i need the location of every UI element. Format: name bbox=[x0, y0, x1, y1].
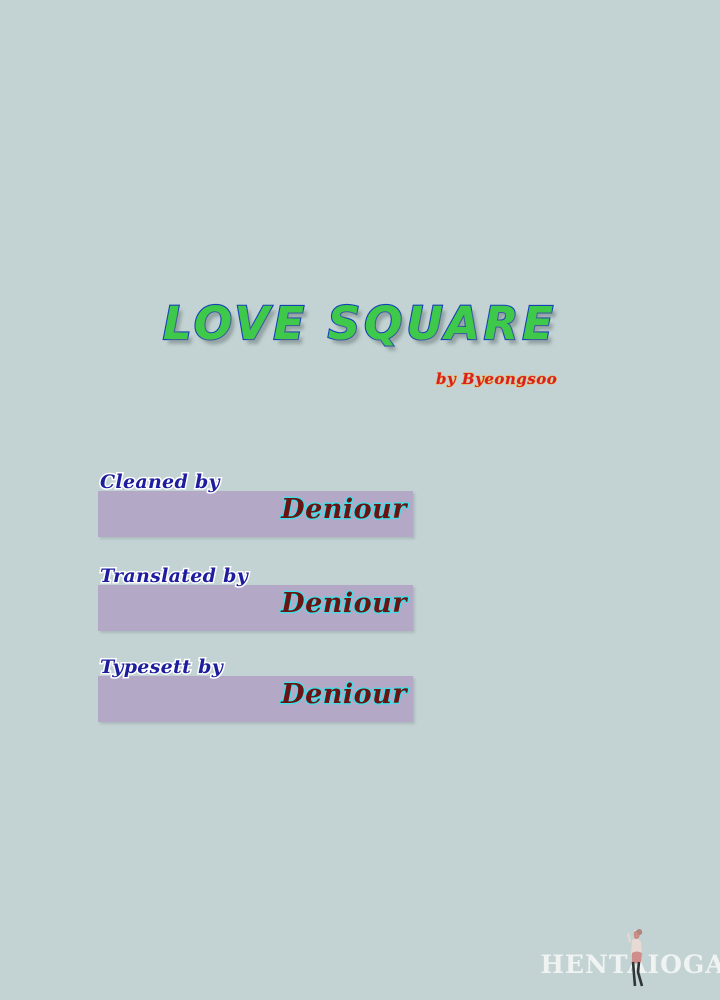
title-block: LOVE SQUARE bbox=[0, 300, 720, 347]
credit-row: Cleaned by Deniour bbox=[98, 491, 413, 537]
credit-label-typesett-by: Typesett by bbox=[100, 656, 223, 678]
credit-value-typesett-by: Deniour bbox=[281, 679, 407, 710]
credit-label-translated-by: Translated by bbox=[100, 565, 248, 587]
watermark-text-right: OGA bbox=[660, 952, 720, 977]
credit-value-cleaned-by: Deniour bbox=[281, 494, 407, 525]
credit-box: Typesett by Deniour bbox=[98, 676, 413, 722]
page-title: LOVE SQUARE bbox=[163, 300, 557, 347]
title-page: LOVE SQUARE by Byeongsoo Cleaned by Deni… bbox=[0, 0, 720, 1000]
credit-value-translated-by: Deniour bbox=[281, 588, 407, 619]
watermark: HENTAI OGA bbox=[558, 938, 708, 990]
credit-label-cleaned-by: Cleaned by bbox=[100, 471, 220, 493]
credit-row: Typesett by Deniour bbox=[98, 676, 413, 722]
credit-box: Cleaned by Deniour bbox=[98, 491, 413, 537]
standing-figure-icon bbox=[620, 926, 650, 988]
credit-row: Translated by Deniour bbox=[98, 585, 413, 631]
title-shadow-wrap: LOVE SQUARE bbox=[163, 300, 557, 347]
credit-box: Translated by Deniour bbox=[98, 585, 413, 631]
author-byline: by Byeongsoo bbox=[436, 370, 557, 388]
